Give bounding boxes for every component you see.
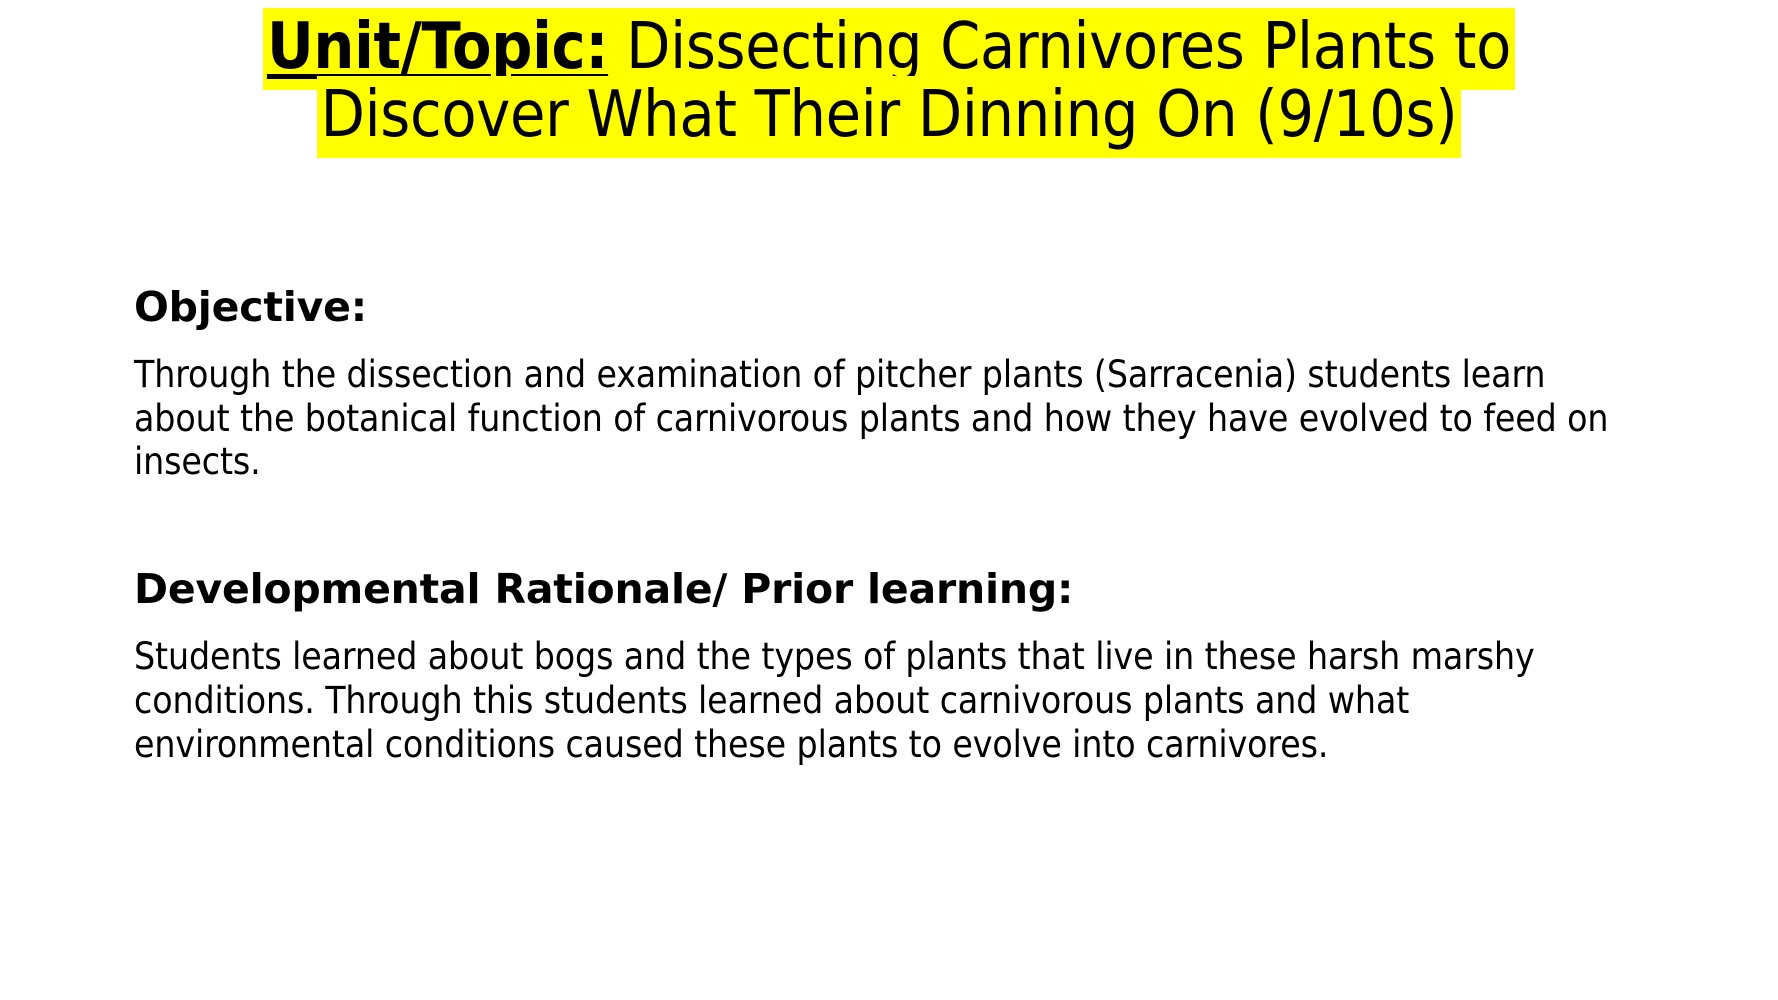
title-line-1: Unit/Topic: Dissecting Carnivores Plants… [0, 14, 1778, 82]
section-spacer [134, 484, 1654, 566]
slide-canvas: Unit/Topic: Dissecting Carnivores Plants… [0, 0, 1778, 1000]
title-line-2-highlight: Discover What Their Dinning On (9/10s) [317, 76, 1462, 158]
title-label: Unit/Topic: [267, 10, 608, 84]
objective-text: Through the dissection and examination o… [134, 353, 1644, 484]
title-line-2: Discover What Their Dinning On (9/10s) [0, 82, 1778, 150]
objective-heading: Objective: [134, 284, 1654, 331]
slide-title: Unit/Topic: Dissecting Carnivores Plants… [0, 14, 1778, 150]
rationale-heading: Developmental Rationale/ Prior learning: [134, 566, 1654, 613]
rationale-text: Students learned about bogs and the type… [134, 635, 1644, 766]
slide-body: Objective: Through the dissection and ex… [134, 284, 1654, 766]
title-line-1-text: Dissecting Carnivores Plants to [608, 10, 1511, 84]
